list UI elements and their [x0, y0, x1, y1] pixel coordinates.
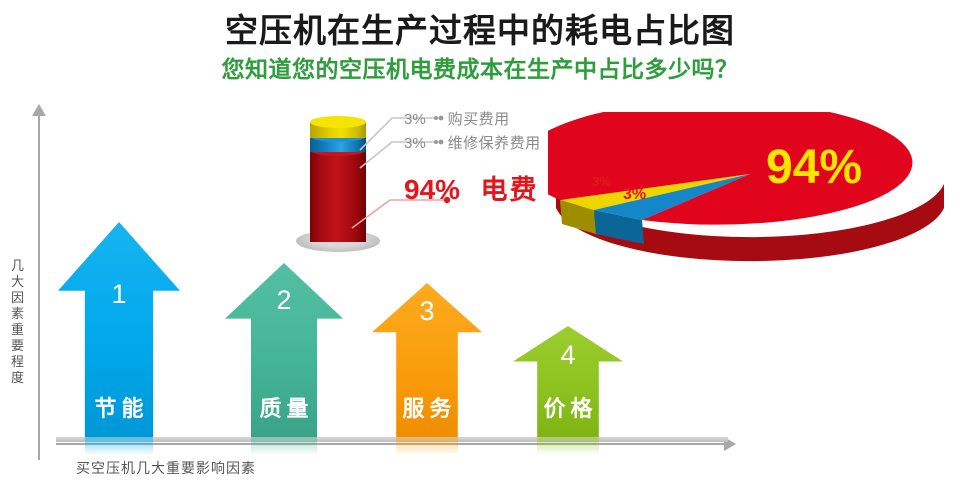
page-title: 空压机在生产过程中的耗电占比图: [0, 4, 960, 52]
infographic-canvas: 空压机在生产过程中的耗电占比图 您知道您的空压机电费成本在生产中占比多少吗？ 几…: [0, 0, 960, 483]
pie-label-main: 94%: [766, 140, 862, 195]
callout-purchase-percent: 3%: [404, 111, 426, 128]
y-axis-arrowhead-icon: [32, 104, 46, 116]
factor-arrow-3[interactable]: 3 服务: [372, 283, 482, 437]
pie-label-maintenance: 3%: [623, 186, 646, 204]
callout-maintenance-percent: 3%: [404, 135, 426, 152]
arrow-reflection-1: [85, 437, 153, 455]
callout-maintenance-label: 维修保养费用: [448, 135, 541, 152]
chart-baseline: [56, 437, 728, 442]
y-axis-label: 几大因素重要程度: [6, 258, 30, 386]
factor-arrow-2[interactable]: 2 质量: [225, 263, 343, 437]
stacked-cylinder-chart: [296, 118, 380, 250]
arrow-reflection-4: [537, 437, 599, 455]
callout-maintenance: 3% 维修保养费用: [404, 132, 541, 153]
callout-purchase-bullet-icon: [434, 116, 438, 120]
callout-maintenance-bullet-icon: [434, 140, 438, 144]
factor-rank-3: 3: [372, 296, 482, 327]
pie-chart-3d: 94% 3% 3%: [548, 112, 952, 262]
factor-rank-2: 2: [225, 285, 343, 316]
pie-label-purchase: 3%: [592, 174, 611, 189]
y-axis-line: [38, 112, 40, 460]
cylinder-segment-purchase-top: [310, 116, 366, 128]
cylinder-segment-electricity: [310, 150, 366, 242]
arrow-reflection-3: [396, 437, 458, 455]
x-axis-label: 买空压机几大重要影响因素: [76, 458, 256, 478]
callout-electricity: 94% 电费: [404, 168, 539, 207]
x-axis-line: [56, 443, 728, 445]
arrow-reflection-2: [251, 437, 317, 455]
callout-electricity-label: 电费: [481, 175, 539, 205]
factor-label-1: 节能: [58, 391, 180, 423]
factor-arrow-1[interactable]: 1 节能: [58, 222, 180, 437]
callout-purchase-label: 购买费用: [448, 111, 510, 128]
factor-label-2: 质量: [225, 391, 343, 423]
callout-electricity-percent: 94%: [404, 174, 460, 205]
factor-rank-1: 1: [58, 279, 180, 310]
callout-purchase: 3% 购买费用: [404, 108, 510, 129]
page-subtitle: 您知道您的空压机电费成本在生产中占比多少吗？: [0, 50, 960, 84]
factor-label-3: 服务: [372, 391, 482, 423]
factor-rank-4: 4: [513, 340, 623, 371]
factor-arrow-4[interactable]: 4 价格: [513, 326, 623, 437]
factor-label-4: 价格: [513, 391, 623, 423]
